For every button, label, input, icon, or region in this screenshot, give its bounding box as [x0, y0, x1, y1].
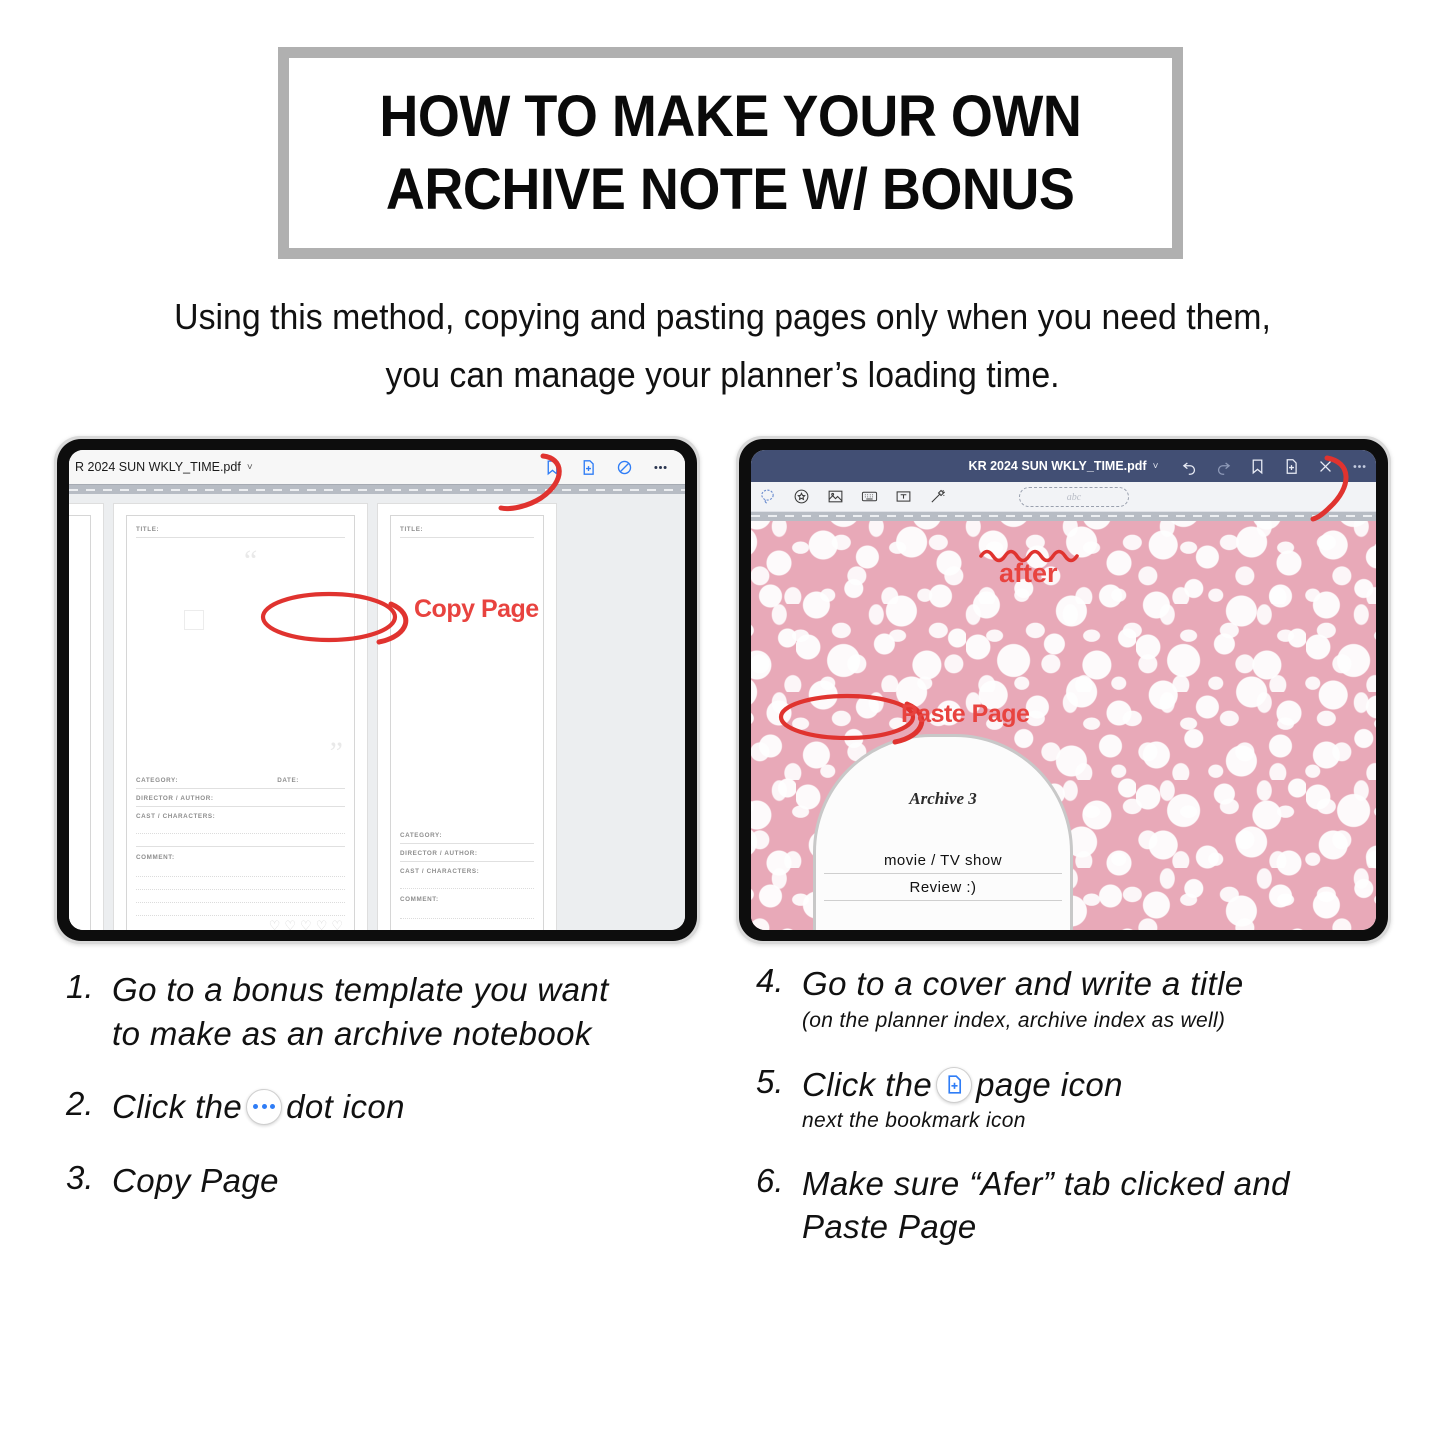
field-date-label: DATE:	[277, 777, 299, 784]
cast-line-2	[136, 834, 345, 847]
field-comment-label: COMMENT:	[136, 847, 345, 864]
field-title-label: TITLE:	[136, 526, 345, 538]
undo-icon[interactable]	[1181, 457, 1198, 476]
rating-hearts[interactable]: ♡ ♡ ♡ ♡ ♡	[136, 916, 345, 930]
step-4-body: Go to a cover and write a title (on the …	[802, 962, 1416, 1035]
step-5: 5. Click the page icon next the bookmark…	[756, 1063, 1416, 1136]
annotate-icon[interactable]	[616, 458, 633, 477]
comment-line-2	[136, 877, 345, 890]
left-pdf-viewport[interactable]: TITLE: “ ” CATEGORY: DATE:	[69, 494, 685, 930]
field-category-date-row-right: CATEGORY:	[400, 827, 534, 844]
pdf-page-current[interactable]: TITLE: “ ” CATEGORY: DATE:	[113, 503, 368, 930]
step-4-number: 4.	[756, 962, 802, 1035]
subtitle-line-1: Using this method, copying and pasting p…	[43, 288, 1401, 346]
template-card: TITLE: “ ” CATEGORY: DATE:	[126, 515, 355, 930]
step-2-text-before: Click the	[112, 1085, 242, 1129]
tablet-left-screen: R 2024 SUN WKLY_TIME.pdf ˅	[69, 450, 685, 930]
quote-area-right	[400, 538, 534, 827]
step-6-body: Make sure “Afer” tab clicked and Paste P…	[802, 1162, 1416, 1249]
page-title-line-2: ARCHIVE NOTE W/ BONUS	[386, 153, 1074, 226]
pdf-page-previous[interactable]	[69, 503, 104, 930]
add-page-icon[interactable]	[936, 1067, 972, 1103]
left-title-chevron-down-icon[interactable]: ˅	[247, 462, 253, 473]
archive-cover-title: Archive 3	[816, 789, 1070, 809]
step-5-line: Click the page icon	[802, 1063, 1416, 1107]
left-app-topbar: R 2024 SUN WKLY_TIME.pdf ˅	[69, 450, 685, 484]
comment-line-r2	[400, 919, 534, 930]
heart-icon[interactable]: ♡	[300, 919, 312, 930]
step-1-body: Go to a bonus template you want to make …	[112, 968, 726, 1055]
field-director-label-right: DIRECTOR / AUTHOR:	[400, 844, 534, 862]
add-page-icon[interactable]	[1283, 457, 1300, 476]
cover-handwriting-2: Review :)	[909, 879, 976, 896]
step-2-number: 2.	[66, 1085, 112, 1129]
field-cast-label-right: CAST / CHARACTERS:	[400, 862, 534, 878]
image-placeholder-icon	[184, 610, 204, 630]
tablet-left-bezel: R 2024 SUN WKLY_TIME.pdf ˅	[57, 439, 697, 941]
step-5-subtext: next the bookmark icon	[802, 1107, 1416, 1135]
step-2-line: Click the dot icon	[112, 1085, 726, 1129]
field-director-label: DIRECTOR / AUTHOR:	[136, 789, 345, 807]
cast-line-right	[400, 878, 534, 889]
redo-icon[interactable]	[1215, 457, 1232, 476]
field-comment-label-right: COMMENT:	[400, 889, 534, 906]
text-box-icon[interactable]	[895, 487, 912, 506]
step-3-number: 3.	[66, 1159, 112, 1203]
step-2: 2. Click the dot icon	[66, 1085, 726, 1129]
quote-area: “ ”	[136, 538, 345, 772]
tutorial-page: HOW TO MAKE YOUR OWN ARCHIVE NOTE W/ BON…	[0, 0, 1445, 1445]
right-edit-toolbar: abc	[751, 482, 1376, 512]
after-annotation-text: after	[999, 558, 1058, 589]
subtitle-line-2: you can manage your planner’s loading ti…	[43, 346, 1401, 404]
tablet-right-bezel: KR 2024 SUN WKLY_TIME.pdf ˅	[739, 439, 1388, 941]
add-page-icon[interactable]	[580, 458, 597, 477]
step-1: 1. Go to a bonus template you want to ma…	[66, 968, 726, 1055]
step-1-line-1: Go to a bonus template you want	[112, 968, 726, 1012]
step-1-number: 1.	[66, 968, 112, 1055]
step-4-line-1: Go to a cover and write a title	[802, 962, 1416, 1006]
comment-line-3	[136, 890, 345, 903]
image-icon[interactable]	[827, 487, 844, 506]
step-5-text-before: Click the	[802, 1063, 932, 1107]
tablet-right: KR 2024 SUN WKLY_TIME.pdf ˅	[736, 436, 1391, 944]
step-6: 6. Make sure “Afer” tab clicked and Past…	[756, 1162, 1416, 1249]
right-page-divider	[751, 512, 1376, 521]
left-page-divider	[69, 484, 685, 494]
more-dots-icon[interactable]	[246, 1089, 282, 1125]
handwriting-abc-field[interactable]: abc	[1019, 487, 1129, 507]
more-dots-icon[interactable]	[652, 458, 669, 477]
left-pdf-spread: TITLE: “ ” CATEGORY: DATE:	[69, 494, 557, 930]
field-category-date-row: CATEGORY: DATE:	[136, 772, 345, 789]
copy-page-circle-annotation	[259, 590, 439, 644]
comment-line-r1	[400, 906, 534, 919]
page-subtitle: Using this method, copying and pasting p…	[43, 288, 1401, 405]
title-banner: HOW TO MAKE YOUR OWN ARCHIVE NOTE W/ BON…	[278, 47, 1183, 259]
heart-icon[interactable]: ♡	[316, 919, 328, 930]
step-6-line-2: Paste Page	[802, 1205, 1416, 1249]
step-5-body: Click the page icon next the bookmark ic…	[802, 1063, 1416, 1136]
steps-right-column: 4. Go to a cover and write a title (on t…	[756, 962, 1416, 1253]
quote-close-glyph: ”	[330, 736, 343, 770]
archive-cover-card[interactable]: Archive 3 movie / TV show Review :)	[813, 734, 1073, 930]
cast-line-1	[136, 823, 345, 834]
quote-open-glyph: “	[244, 544, 257, 578]
cover-line-2: Review :)	[824, 874, 1062, 901]
right-app-topbar: KR 2024 SUN WKLY_TIME.pdf ˅	[751, 450, 1376, 482]
step-4: 4. Go to a cover and write a title (on t…	[756, 962, 1416, 1035]
cover-line-1: movie / TV show	[824, 847, 1062, 874]
right-document-title[interactable]: KR 2024 SUN WKLY_TIME.pdf	[969, 459, 1147, 473]
cover-handwriting-1: movie / TV show	[884, 852, 1002, 869]
step-6-line-1: Make sure “Afer” tab clicked and	[802, 1162, 1416, 1206]
step-1-line-2: to make as an archive notebook	[112, 1012, 726, 1056]
step-6-number: 6.	[756, 1162, 802, 1249]
step-5-number: 5.	[756, 1063, 802, 1136]
step-3: 3. Copy Page	[66, 1159, 726, 1203]
field-category-label-right: CATEGORY:	[400, 832, 442, 839]
template-card-partial	[69, 515, 91, 930]
page-title-line-1: HOW TO MAKE YOUR OWN	[380, 80, 1082, 153]
step-3-body: Copy Page	[112, 1159, 726, 1203]
field-title-label-right: TITLE:	[400, 526, 534, 538]
add-page-pointer-annotation	[1299, 452, 1369, 527]
field-cast-label: CAST / CHARACTERS:	[136, 807, 345, 823]
magic-wand-icon[interactable]	[929, 487, 946, 506]
heart-icon[interactable]: ♡	[331, 919, 343, 930]
sticker-icon[interactable]	[793, 487, 810, 506]
template-card-right: TITLE: CATEGORY: DIRECTOR / AUTHOR: CAST…	[390, 515, 544, 930]
tablet-left: R 2024 SUN WKLY_TIME.pdf ˅	[54, 436, 700, 944]
pdf-page-next[interactable]: TITLE: CATEGORY: DIRECTOR / AUTHOR: CAST…	[377, 503, 557, 930]
right-title-chevron-down-icon[interactable]: ˅	[1153, 461, 1159, 472]
bookmark-icon[interactable]	[1249, 457, 1266, 476]
dots-pointer-annotation	[487, 450, 567, 520]
field-category-label: CATEGORY:	[136, 777, 178, 784]
keyboard-icon[interactable]	[861, 487, 878, 506]
paste-page-annotation-text: Paste Page	[901, 700, 1029, 729]
tablet-right-screen: KR 2024 SUN WKLY_TIME.pdf ˅	[751, 450, 1376, 930]
lasso-icon[interactable]	[759, 487, 776, 506]
archive-cover-lines: movie / TV show Review :)	[816, 847, 1070, 901]
step-4-subtext: (on the planner index, archive index as …	[802, 1007, 1416, 1035]
comment-line-4	[136, 903, 345, 916]
left-document-title[interactable]: R 2024 SUN WKLY_TIME.pdf	[75, 460, 241, 474]
steps-left-column: 1. Go to a bonus template you want to ma…	[66, 968, 726, 1206]
step-2-text-after: dot icon	[286, 1085, 405, 1129]
comment-line-1	[136, 864, 345, 877]
step-5-text-after: page icon	[976, 1063, 1123, 1107]
step-2-body: Click the dot icon	[112, 1085, 726, 1129]
copy-page-annotation-text: Copy Page	[414, 595, 539, 624]
step-3-line-1: Copy Page	[112, 1159, 726, 1203]
heart-icon[interactable]: ♡	[284, 919, 296, 930]
heart-icon[interactable]: ♡	[269, 919, 281, 930]
